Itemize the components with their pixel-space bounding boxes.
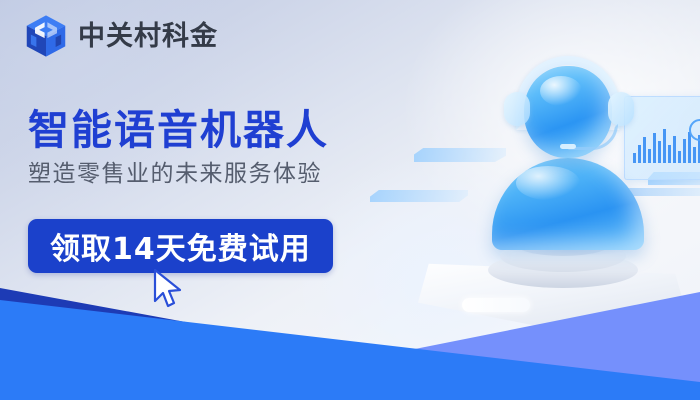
panel-base-slab (626, 188, 700, 196)
equalizer-bar (638, 145, 641, 163)
page-subtitle: 塑造零售业的未来服务体验 (28, 160, 448, 190)
equalizer-bar (668, 145, 671, 163)
headset-mic-tip-icon (560, 144, 576, 149)
equalizer-bar (643, 137, 646, 163)
equalizer-bar (658, 141, 661, 163)
headset-earcup-left-icon (504, 92, 530, 126)
brand-logo-text: 中关村科金 (78, 23, 218, 50)
avatar-body-highlight (516, 166, 580, 200)
avatar-head-highlight (540, 76, 582, 106)
equalizer-bar (653, 133, 656, 163)
equalizer-bar (648, 149, 651, 163)
free-trial-cta-button[interactable]: 领取14天免费试用 (28, 219, 333, 273)
equalizer-bar (683, 139, 686, 163)
headset-earcup-right-icon (608, 92, 634, 126)
bottom-geometric-shapes (0, 270, 700, 400)
data-analytics-panel (624, 96, 700, 180)
hero-copy-block: 智能语音机器人 塑造零售业的未来服务体验 (28, 104, 448, 190)
equalizer-bar (693, 147, 696, 163)
equalizer-bar (633, 153, 636, 163)
floating-slab (370, 190, 468, 202)
promo-banner: 中关村科金 智能语音机器人 (0, 0, 700, 400)
equalizer-bar (663, 129, 666, 163)
brand-logo[interactable]: 中关村科金 (24, 14, 218, 58)
equalizer-bar (673, 136, 676, 163)
page-title: 智能语音机器人 (28, 104, 448, 156)
isometric-cube-logo-icon (24, 14, 68, 58)
equalizer-bar (678, 151, 681, 163)
